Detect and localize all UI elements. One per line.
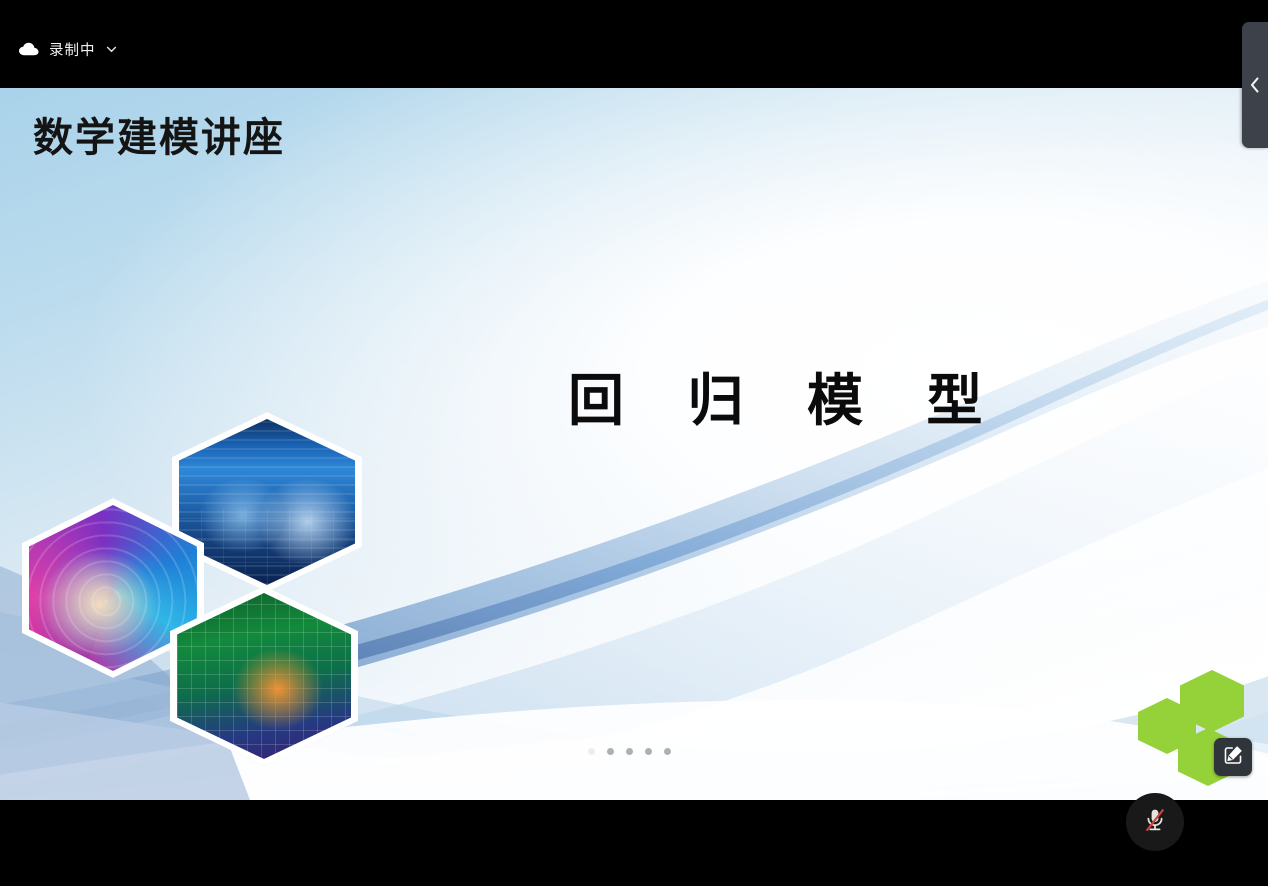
pagination-dot[interactable] [607,748,614,755]
pagination-dot[interactable] [645,748,652,755]
presentation-slide[interactable]: 数学建模讲座 回 归 模 型 [0,88,1268,800]
recording-status-button[interactable]: 录制中 [18,36,118,62]
app-screen: 录制中 [0,0,1268,886]
pencil-edit-icon [1222,744,1244,771]
slide-pagination[interactable] [588,748,671,755]
chevron-down-icon[interactable] [105,43,118,56]
recording-status-label: 录制中 [49,39,96,60]
slide-main-heading: 回 归 模 型 [546,373,906,429]
collapse-panel-handle[interactable] [1242,22,1268,148]
pagination-dot[interactable] [588,748,595,755]
pagination-dot[interactable] [626,748,633,755]
annotate-button[interactable] [1214,738,1252,776]
chevron-left-icon [1248,75,1262,95]
page-title: 数学建模讲座 [33,118,285,158]
top-recording-bar: 录制中 [0,0,1268,88]
microphone-mute-button[interactable] [1126,793,1184,851]
cloud-icon [18,41,40,57]
pagination-dot[interactable] [664,748,671,755]
microphone-muted-icon [1140,805,1170,840]
